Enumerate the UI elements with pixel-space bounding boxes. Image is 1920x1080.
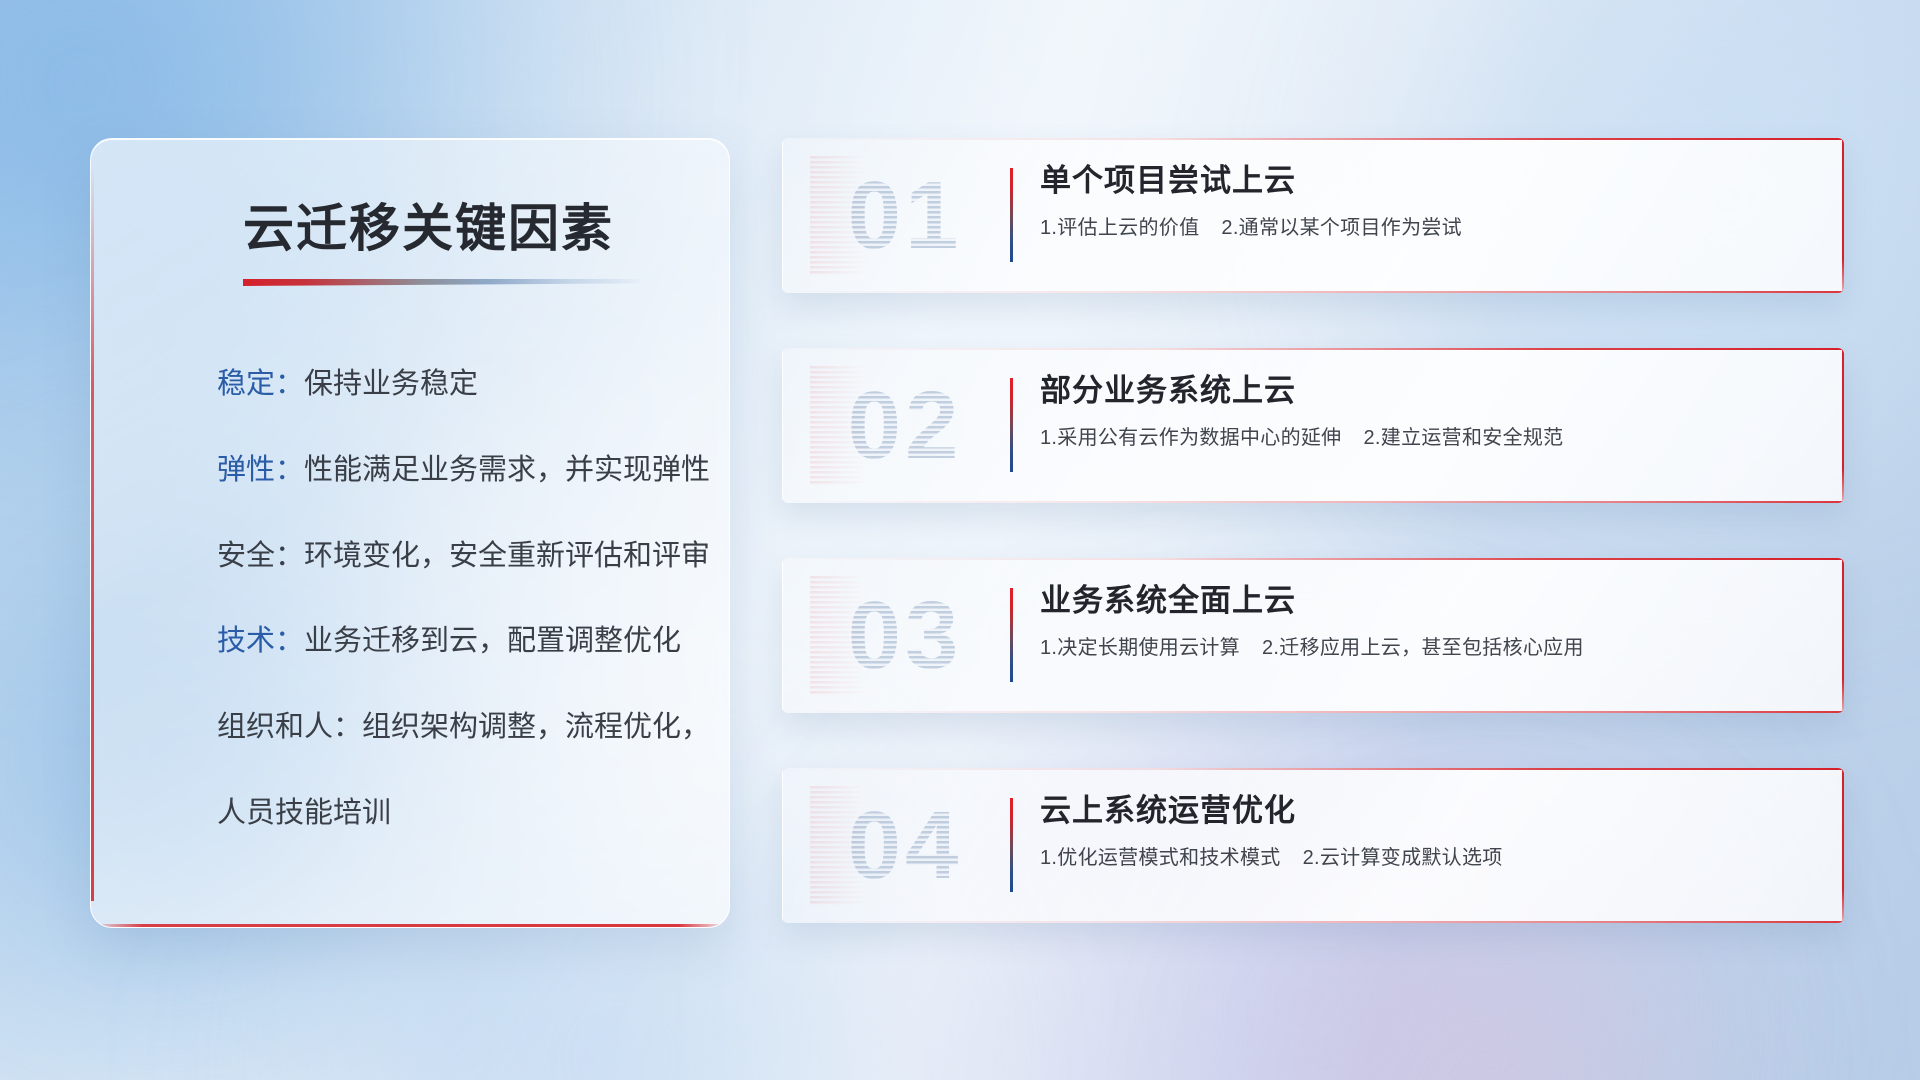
card-bottom-accent-line (782, 291, 1844, 293)
key-factors-panel: 云迁移关键因素 稳定：保持业务稳定弹性：性能满足业务需求，并实现弹性安全：环境变… (90, 138, 730, 928)
cloud-stage-card-list: 01单个项目尝试上云1.评估上云的价值2.通常以某个项目作为尝试02部分业务系统… (782, 138, 1844, 923)
key-factor-label: 技术： (217, 624, 304, 659)
key-factor-label: 稳定： (217, 367, 304, 402)
key-factor-value: 性能满足业务需求，并实现弹性 (304, 453, 710, 488)
card-right-accent-line (1842, 558, 1844, 713)
card-divider-bar (1010, 798, 1013, 892)
cloud-stage-card[interactable]: 02部分业务系统上云1.采用公有云作为数据中心的延伸2.建立运营和安全规范 (782, 348, 1844, 503)
card-divider-bar (1010, 168, 1013, 262)
cloud-stage-card[interactable]: 01单个项目尝试上云1.评估上云的价值2.通常以某个项目作为尝试 (782, 138, 1844, 293)
card-description: 1.评估上云的价值2.通常以某个项目作为尝试 (1040, 215, 1804, 242)
card-top-accent-line (782, 348, 1844, 350)
card-body: 业务系统全面上云1.决定长期使用云计算2.迁移应用上云，甚至包括核心应用 (1040, 582, 1804, 662)
card-title: 部分业务系统上云 (1040, 372, 1804, 411)
key-factor-value: 业务迁移到云，配置调整优化 (304, 624, 681, 659)
card-description-part-1: 1.优化运营模式和技术模式 (1040, 847, 1281, 869)
card-body: 云上系统运营优化1.优化运营模式和技术模式2.云计算变成默认选项 (1040, 792, 1804, 872)
card-divider-bar (1010, 588, 1013, 682)
key-factor-row: 组织和人：组织架构调整，流程优化， (217, 710, 689, 745)
card-description-part-1: 1.采用公有云作为数据中心的延伸 (1040, 427, 1341, 449)
card-body: 单个项目尝试上云1.评估上云的价值2.通常以某个项目作为尝试 (1040, 162, 1804, 242)
card-description-part-1: 1.决定长期使用云计算 (1040, 637, 1240, 659)
key-factors-list: 稳定：保持业务稳定弹性：性能满足业务需求，并实现弹性安全：环境变化，安全重新评估… (217, 367, 689, 831)
card-description-part-2: 2.建立运营和安全规范 (1363, 427, 1563, 449)
card-description-part-1: 1.评估上云的价值 (1040, 217, 1199, 239)
card-title: 云上系统运营优化 (1040, 792, 1804, 831)
card-description: 1.优化运营模式和技术模式2.云计算变成默认选项 (1040, 845, 1804, 872)
card-step-number: 03 (810, 576, 1000, 696)
card-description: 1.采用公有云作为数据中心的延伸2.建立运营和安全规范 (1040, 425, 1804, 452)
card-description-part-2: 2.迁移应用上云，甚至包括核心应用 (1262, 637, 1584, 659)
title-underline-rule (243, 279, 641, 286)
key-factor-row: 技术：业务迁移到云，配置调整优化 (217, 624, 689, 659)
card-left-highlight (782, 768, 783, 923)
card-bottom-accent-line (782, 501, 1844, 503)
card-right-accent-line (1842, 348, 1844, 503)
key-factor-value: 组织架构调整，流程优化， (362, 710, 710, 745)
card-right-accent-line (1842, 138, 1844, 293)
card-divider-bar (1010, 378, 1013, 472)
card-bottom-accent-line (782, 711, 1844, 713)
key-factor-label: 安全： (217, 539, 304, 574)
key-factor-row: 安全：环境变化，安全重新评估和评审 (217, 539, 689, 574)
card-left-highlight (782, 558, 783, 713)
card-description: 1.决定长期使用云计算2.迁移应用上云，甚至包括核心应用 (1040, 635, 1804, 662)
key-factor-value-continued: 人员技能培训 (217, 796, 391, 831)
key-factor-row: 弹性：性能满足业务需求，并实现弹性 (217, 453, 689, 488)
card-bottom-accent-line (782, 921, 1844, 923)
key-factor-value: 环境变化，安全重新评估和评审 (304, 539, 710, 574)
card-right-accent-line (1842, 768, 1844, 923)
card-description-part-2: 2.云计算变成默认选项 (1303, 847, 1503, 869)
key-factor-row: 稳定：保持业务稳定 (217, 367, 689, 402)
key-factor-label: 弹性： (217, 453, 304, 488)
slide-stage: 云迁移关键因素 稳定：保持业务稳定弹性：性能满足业务需求，并实现弹性安全：环境变… (0, 0, 1920, 1080)
key-factor-label: 组织和人： (217, 710, 362, 745)
card-title: 业务系统全面上云 (1040, 582, 1804, 621)
card-description-part-2: 2.通常以某个项目作为尝试 (1221, 217, 1462, 239)
card-top-accent-line (782, 558, 1844, 560)
cloud-stage-card[interactable]: 04云上系统运营优化1.优化运营模式和技术模式2.云计算变成默认选项 (782, 768, 1844, 923)
card-step-number: 01 (810, 156, 1000, 276)
cloud-stage-card[interactable]: 03业务系统全面上云1.决定长期使用云计算2.迁移应用上云，甚至包括核心应用 (782, 558, 1844, 713)
card-body: 部分业务系统上云1.采用公有云作为数据中心的延伸2.建立运营和安全规范 (1040, 372, 1804, 452)
key-factor-row: 人员技能培训 (217, 796, 689, 831)
card-left-highlight (782, 348, 783, 503)
panel-title: 云迁移关键因素 (243, 187, 614, 261)
card-left-highlight (782, 138, 783, 293)
card-top-accent-line (782, 768, 1844, 770)
card-title: 单个项目尝试上云 (1040, 162, 1804, 201)
card-top-accent-line (782, 138, 1844, 140)
card-step-number: 02 (810, 366, 1000, 486)
card-step-number: 04 (810, 786, 1000, 906)
key-factor-value: 保持业务稳定 (304, 367, 478, 402)
